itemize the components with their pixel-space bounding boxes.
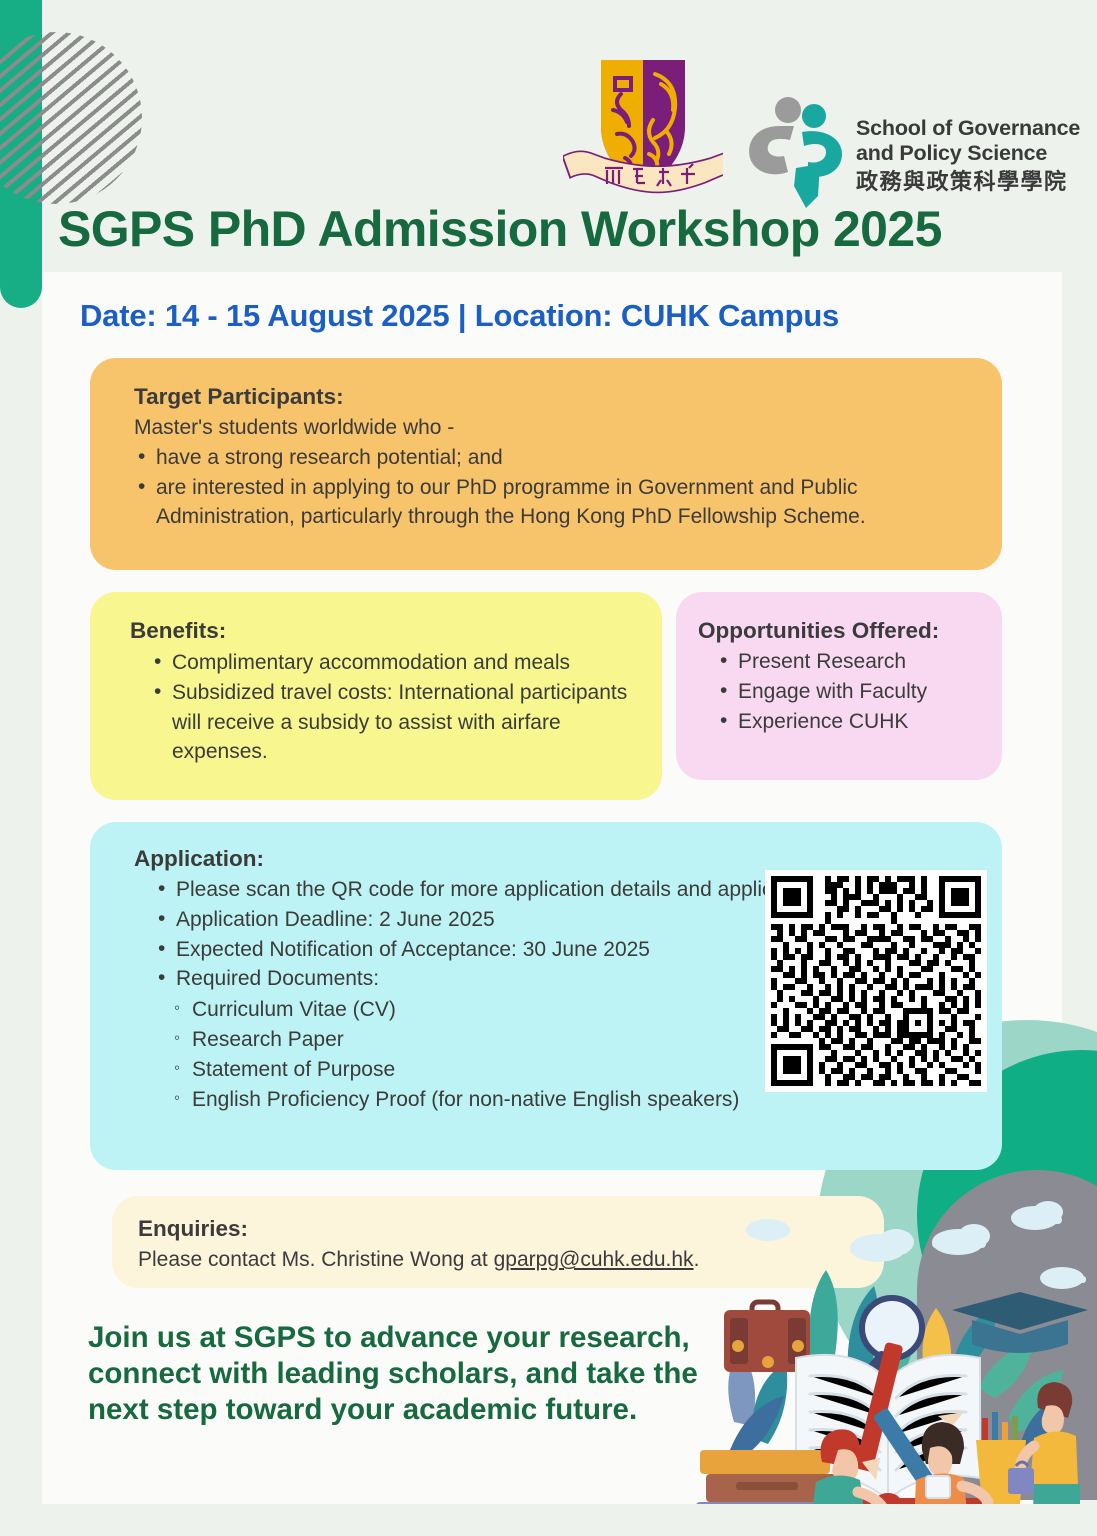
email-link[interactable]: gparpg@cuhk.edu.hk bbox=[494, 1248, 694, 1271]
qr-code[interactable] bbox=[765, 870, 987, 1092]
opportunities-heading: Opportunities Offered: bbox=[698, 618, 982, 644]
opportunities-list: Present Research Engage with Faculty Exp… bbox=[716, 647, 982, 736]
benefits-list: Complimentary accommodation and meals Su… bbox=[150, 648, 638, 767]
sgps-name-en-line2: and Policy Science bbox=[856, 141, 1086, 166]
sgps-wordmark: School of Governance and Policy Science … bbox=[856, 116, 1086, 195]
benefits-heading: Benefits: bbox=[130, 618, 638, 644]
date-location-line: Date: 14 - 15 August 2025 | Location: CU… bbox=[80, 298, 1060, 334]
sgps-logo-mark bbox=[738, 90, 858, 210]
page-title: SGPS PhD Admission Workshop 2025 bbox=[58, 200, 1078, 258]
opportunities-card: Opportunities Offered: Present Research … bbox=[676, 592, 1002, 780]
enquiries-text-before: Please contact Ms. Christine Wong at bbox=[138, 1248, 494, 1271]
sgps-name-zh: 政務與政策科學學院 bbox=[856, 169, 1086, 195]
sgps-name-en-line1: School of Governance bbox=[856, 116, 1086, 141]
qr-code-image[interactable] bbox=[765, 870, 987, 1092]
list-item: Present Research bbox=[716, 647, 982, 677]
list-item: Subsidized travel costs: International p… bbox=[150, 678, 638, 767]
students-study-illustration bbox=[690, 1150, 1090, 1536]
list-item: Experience CUHK bbox=[716, 707, 982, 737]
target-heading: Target Participants: bbox=[134, 384, 972, 410]
poster-header: School of Governance and Policy Science … bbox=[0, 38, 1097, 188]
cuhk-crest bbox=[563, 48, 723, 208]
bottom-strip bbox=[0, 1504, 1097, 1536]
list-item: Engage with Faculty bbox=[716, 677, 982, 707]
application-heading: Application: bbox=[134, 846, 972, 872]
benefits-card: Benefits: Complimentary accommodation an… bbox=[90, 592, 662, 800]
list-item: have a strong research potential; and bbox=[134, 443, 972, 473]
target-participants-card: Target Participants: Master's students w… bbox=[90, 358, 1002, 570]
poster: School of Governance and Policy Science … bbox=[0, 0, 1097, 1536]
target-list: have a strong research potential; and ar… bbox=[134, 443, 972, 532]
closing-tagline: Join us at SGPS to advance your research… bbox=[88, 1320, 708, 1428]
graduation-cap-icon bbox=[952, 1292, 1088, 1353]
list-item: are interested in applying to our PhD pr… bbox=[134, 473, 972, 533]
cloud-icon bbox=[746, 1201, 1086, 1289]
list-item: Complimentary accommodation and meals bbox=[150, 648, 638, 678]
target-intro: Master's students worldwide who - bbox=[134, 413, 972, 443]
